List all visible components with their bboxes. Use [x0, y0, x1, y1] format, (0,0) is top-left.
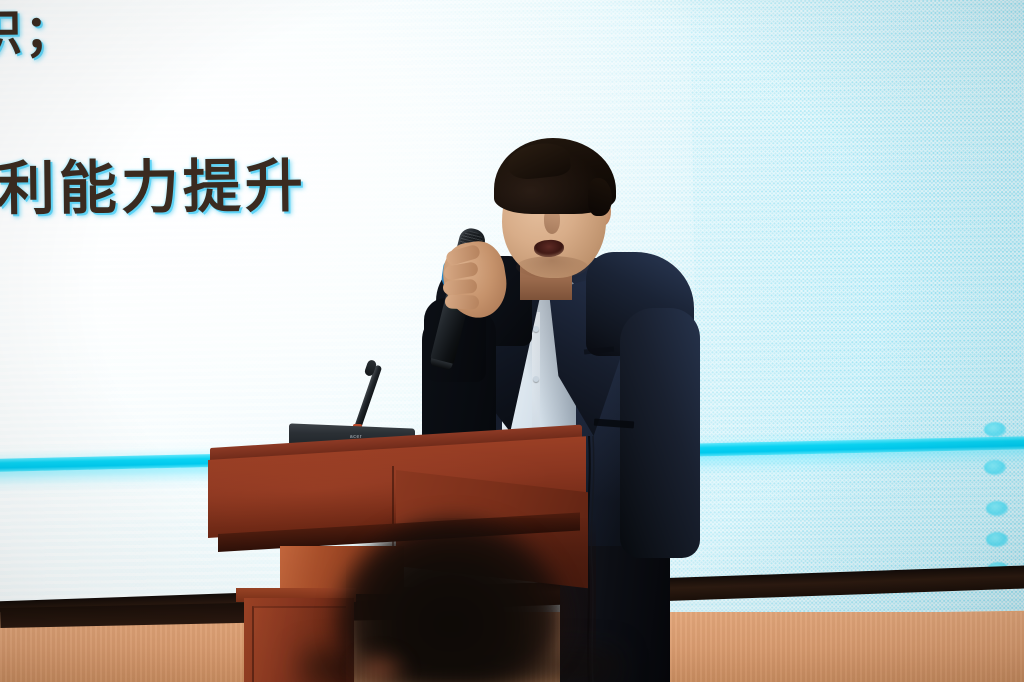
finger — [443, 279, 478, 295]
finger — [445, 294, 479, 309]
shirt-button — [533, 376, 539, 382]
shirt-button — [533, 326, 539, 332]
hair-sideburn — [588, 178, 612, 216]
decor-dot — [984, 422, 1006, 437]
chin-shading — [516, 256, 588, 278]
jacket-sleeve-right — [620, 308, 700, 558]
slide-decor-dot-column — [984, 420, 1014, 576]
slide-text-line-1: 的意识； — [0, 0, 691, 70]
decor-dot — [986, 532, 1008, 547]
decor-dot — [984, 460, 1006, 475]
decor-dot — [986, 501, 1008, 516]
photo-canvas: 的意识； 验； 动盈利能力提升 acer — [0, 0, 1024, 682]
gooseneck-microphone — [340, 362, 386, 432]
foreground-highlight — [352, 652, 408, 682]
